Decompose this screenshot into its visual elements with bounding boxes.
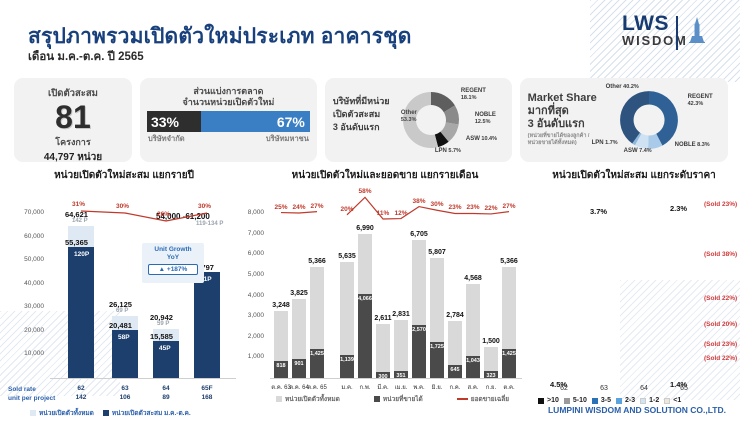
legend-swatch-3-5 xyxy=(592,398,598,404)
units-donut-name-lpn: LPN xyxy=(435,148,447,154)
unit-per-project-63: 106 xyxy=(108,394,142,401)
share-donut-value-regent: 42.3% xyxy=(688,101,704,107)
bar-total-label-3: 5,635 xyxy=(333,253,361,260)
share-donut-chart xyxy=(616,87,682,153)
bar-sold-label-8: 1,725 xyxy=(427,344,447,350)
chart-panel-monthly: หน่วยเปิดตัวใหม่และยอดขาย แยกรายเดือน 8,… xyxy=(240,166,530,418)
sold-rate-label-64: 26% xyxy=(157,211,170,218)
x-category-65F: 65F xyxy=(190,385,224,392)
y-tick-label: 4,000 xyxy=(240,292,264,299)
page-header: สรุปภาพรวมเปิดตัวใหม่ประเภท อาคารชุด เดื… xyxy=(0,0,740,72)
bar-ytd-65F xyxy=(194,272,220,378)
chart-monthly-title: หน่วยเปิดตัวใหม่และยอดขาย แยกรายเดือน xyxy=(240,166,530,183)
sold-rate-label-6: 12% xyxy=(389,210,413,217)
kpi-band: เปิดตัวสะสม 81 โครงการ 44,797 หน่วย ส่วน… xyxy=(14,78,728,162)
sold-rate-label-65F: 30% xyxy=(198,203,211,210)
x-category-65: 65 xyxy=(672,385,696,392)
units-donut-label-other: Other 53.3% xyxy=(401,110,417,124)
share-donut-value-lpn: 1.7% xyxy=(605,140,618,146)
share-donut-name-lpn: LPN xyxy=(592,140,604,146)
bar-ytd-inlabel-63: 58P xyxy=(118,334,130,341)
units-donut-label-asw: ASW 10.4% xyxy=(466,136,497,143)
x-category-63: 63 xyxy=(592,385,616,392)
sold-rate-line xyxy=(8,195,240,235)
legend-item-<1[interactable]: <1 xyxy=(664,397,681,404)
y-tick-label: 7,000 xyxy=(240,230,264,237)
legend-item-soldline[interactable]: ยอดขายเฉลี่ย xyxy=(457,394,509,404)
units-donut-name-noble: NOBLE xyxy=(475,112,496,119)
chart-panel-yearly: หน่วยเปิดตัวใหม่สะสม แยกรายปี 70,00060,0… xyxy=(8,166,240,418)
x-category-2: ต.ค. 65 xyxy=(305,382,329,392)
y-tick-label: 30,000 xyxy=(10,303,44,310)
share-legend: บริษัทจำกัด บริษัทมหาชน xyxy=(140,132,317,145)
legend-label-3-5: 3-5 xyxy=(601,397,611,404)
kpi-card-share-donut: Market Share มากที่สุด 3 อันดับแรก (หน่ว… xyxy=(520,78,728,162)
legend-swatch-1 xyxy=(374,396,380,402)
sold-annotation-2-3: (Sold 22%) xyxy=(704,295,737,302)
share-donut-name-asw: ASW xyxy=(624,148,638,154)
segment-label-<1-65: 2.3% xyxy=(670,204,687,213)
bar-sold-label-10: 1,043 xyxy=(463,358,483,364)
bar-sold-label-11: 323 xyxy=(481,373,501,379)
chart-monthly-legend: หน่วยเปิดตัวทั้งหมดหน่วยที่ขายได้ยอดขายเ… xyxy=(276,394,509,404)
legend-label-1: หน่วยที่ขายได้ xyxy=(383,394,423,404)
bar-sold-label-6: 351 xyxy=(391,373,411,379)
sold-rate-label-62: 31% xyxy=(72,201,85,208)
unit-per-project-64: 89 xyxy=(149,394,183,401)
legend-item-3-5[interactable]: 3-5 xyxy=(592,397,611,404)
units-donut-value-regent: 18.1% xyxy=(461,95,477,101)
units-donut-name-other: Other xyxy=(401,110,417,117)
sold-annotation-5-10: (Sold 23%) xyxy=(704,341,737,348)
units-donut-value-other: 53.3% xyxy=(401,117,417,123)
legend-item-2-3[interactable]: 2-3 xyxy=(616,397,635,404)
legend-item-0[interactable]: หน่วยเปิดตัวทั้งหมด xyxy=(30,408,94,418)
legend-label-0: หน่วยเปิดตัวทั้งหมด xyxy=(285,394,340,404)
chart-yearly-plot: 70,00060,00050,00040,00030,00020,00010,0… xyxy=(8,183,240,435)
share-donut-value-noble: 8.3% xyxy=(697,142,710,148)
legend-item->10[interactable]: >10 xyxy=(538,397,559,404)
chart-yearly-title: หน่วยเปิดตัวใหม่สะสม แยกรายปี xyxy=(8,166,240,183)
bar-total-label-9: 2,784 xyxy=(441,312,469,319)
growth-label-line2: YoY xyxy=(142,254,204,261)
bar-ytd-62 xyxy=(68,247,94,378)
sold-rate-label-3: 20% xyxy=(335,206,359,213)
sold-rate-label-4: 58% xyxy=(353,188,377,195)
bar-total-label-8: 5,807 xyxy=(423,249,451,256)
share-donut-name-regent: REGENT xyxy=(688,94,713,101)
share-donut-title: Market Share มากที่สุด 3 อันดับแรก (หน่ว… xyxy=(528,92,597,147)
share-donut-title-2: มากที่สุด xyxy=(528,105,597,118)
units-donut-value-asw: 10.4% xyxy=(481,136,497,142)
units-donut-title: บริษัทที่มีหน่วย เปิดตัวสะสม 3 อันดับแรก xyxy=(333,95,390,134)
legend-swatch-<1 xyxy=(664,398,670,404)
bar-ytd-label-64: 15,585 xyxy=(150,332,173,341)
legend-label-1-2: 1-2 xyxy=(649,397,659,404)
share-donut-name-noble: NOBLE xyxy=(675,142,696,148)
bar-sold-label-9: 645 xyxy=(445,367,465,373)
y-tick-label: 3,000 xyxy=(240,312,264,319)
y-tick-label: 5,000 xyxy=(240,271,264,278)
legend-swatch-2-3 xyxy=(616,398,622,404)
bar-total-label-10: 4,568 xyxy=(459,275,487,282)
growth-pill: ▲ +187% xyxy=(148,264,198,275)
bar-total-label-1: 3,825 xyxy=(285,290,313,297)
share-donut-label-regent: REGENT 42.3% xyxy=(688,94,713,108)
kpi-card-launch: เปิดตัวสะสม 81 โครงการ 44,797 หน่วย xyxy=(14,78,132,162)
bar-total-label-2: 5,366 xyxy=(303,258,331,265)
legend-swatch-1-2 xyxy=(640,398,646,404)
unit-per-project-row-label: unit per project xyxy=(8,395,55,403)
share-donut-title-1: Market Share xyxy=(528,92,597,105)
bar-sold-label-0: 818 xyxy=(271,363,291,369)
x-category-62: 62 xyxy=(552,385,576,392)
bar-sold-label-2: 1,425 xyxy=(307,351,327,357)
legend-item-1[interactable]: หน่วยเปิดตัวสะสม ม.ค.-ต.ค. xyxy=(103,408,191,418)
kpi-launch-units: 44,797 หน่วย xyxy=(14,150,132,165)
legend-swatch-5-10 xyxy=(564,398,570,404)
bar-total-label-4: 6,990 xyxy=(351,225,379,232)
legend-label-2-3: 2-3 xyxy=(625,397,635,404)
legend-item-1-2[interactable]: 1-2 xyxy=(640,397,659,404)
kpi-launch-value: 81 xyxy=(14,101,132,133)
legend-swatch->10 xyxy=(538,398,544,404)
share-donut-note-2: หน่วยขายได้ทั้งหมด) xyxy=(528,140,597,147)
x-category-62: 62 xyxy=(64,385,98,392)
legend-label-1: หน่วยเปิดตัวสะสม ม.ค.-ต.ค. xyxy=(112,408,191,418)
bar-sold-label-12: 1,425 xyxy=(499,351,519,357)
segment-label-<1-63: 3.7% xyxy=(590,207,607,216)
units-donut-value-noble: 12.5% xyxy=(475,119,491,125)
legend-item-0[interactable]: หน่วยเปิดตัวทั้งหมด xyxy=(276,394,340,404)
legend-item-5-10[interactable]: 5-10 xyxy=(564,397,587,404)
logo-divider xyxy=(676,16,678,50)
bar-total-6 xyxy=(394,320,408,378)
chart-panel-priceband: หน่วยเปิดตัวใหม่สะสม แยกระดับราคา 4.5%62… xyxy=(530,166,738,418)
units-donut-label-lpn: LPN 5.7% xyxy=(435,148,461,155)
sold-annotation-<1: (Sold 23%) xyxy=(704,201,737,208)
units-donut-title-1: บริษัทที่มีหน่วย xyxy=(333,95,390,108)
chart-priceband-plot: 4.5%623.7%63642.3%1.4%65(Sold 23%)(Sold … xyxy=(530,183,738,435)
page-subtitle: เดือน ม.ค.-ต.ค. ปี 2565 xyxy=(28,48,144,66)
share-title-line1: ส่วนแบ่งการตลาด xyxy=(140,78,317,97)
growth-label-line1: Unit Growth xyxy=(142,246,204,253)
share-donut-label-other: Other 40.2% xyxy=(606,84,639,91)
footer-company: LUMPINI WISDOM AND SOLUTION CO.,LTD. xyxy=(548,405,726,415)
unit-per-project-65F: 168 xyxy=(190,394,224,401)
y-tick-label: 1,000 xyxy=(240,353,264,360)
bar-total-sublabel-63: 69 P xyxy=(116,308,128,314)
x-category-64: 64 xyxy=(632,385,656,392)
share-donut-label-lpn: LPN 1.7% xyxy=(592,140,618,147)
bar-sold-4 xyxy=(358,294,372,378)
sold-annotation-1-2: (Sold 38%) xyxy=(704,251,737,258)
y-tick-label: 2,000 xyxy=(240,333,264,340)
share-donut-value-other: 40.2% xyxy=(623,84,639,90)
bar-ytd-label-63: 20,481 xyxy=(109,321,132,330)
share-donut-label-noble: NOBLE 8.3% xyxy=(675,142,710,149)
bar-sold-label-7: 2,570 xyxy=(409,327,429,333)
legend-item-1[interactable]: หน่วยที่ขายได้ xyxy=(374,394,423,404)
share-right-pct: 67% xyxy=(201,111,310,132)
bar-total-label-6: 2,831 xyxy=(387,311,415,318)
sold-rate-label-2: 27% xyxy=(305,203,329,210)
legend-label-soldline: ยอดขายเฉลี่ย xyxy=(471,394,509,404)
legend-swatch-1 xyxy=(103,410,109,416)
y-tick-label: 6,000 xyxy=(240,250,264,257)
units-donut-title-2: เปิดตัวสะสม xyxy=(333,108,390,121)
y-tick-label: 50,000 xyxy=(10,256,44,263)
units-donut-title-3: 3 อันดับแรก xyxy=(333,121,390,134)
chart-priceband-title: หน่วยเปิดตัวใหม่สะสม แยกระดับราคา xyxy=(530,166,738,183)
x-axis-line xyxy=(50,378,236,379)
bar-ytd-inlabel-64: 45P xyxy=(159,345,171,352)
kpi-card-market-share: ส่วนแบ่งการตลาด จำนวนหน่วยเปิดตัวใหม่ 33… xyxy=(140,78,317,162)
kpi-card-units-donut: บริษัทที่มีหน่วย เปิดตัวสะสม 3 อันดับแรก… xyxy=(325,78,512,162)
y-tick-label: 10,000 xyxy=(10,350,44,357)
x-category-12: ต.ค. xyxy=(497,382,521,392)
share-right-label: บริษัทมหาชน xyxy=(266,133,309,145)
legend-swatch-soldline xyxy=(457,398,468,400)
sold-rate-row-label: Sold rate xyxy=(8,386,36,394)
share-left-label: บริษัทจำกัด xyxy=(148,133,185,145)
bar-total-label-11: 1,500 xyxy=(477,338,505,345)
units-donut-label-regent: REGENT 18.1% xyxy=(461,88,486,102)
legend-swatch-0 xyxy=(276,396,282,402)
chart-yearly-legend: หน่วยเปิดตัวทั้งหมดหน่วยเปิดตัวสะสม ม.ค.… xyxy=(30,408,191,418)
bar-sold-label-4: 4,066 xyxy=(355,296,375,302)
share-left-pct: 33% xyxy=(147,111,201,132)
units-donut-name-regent: REGENT xyxy=(461,88,486,95)
sold-annotation->10: (Sold 22%) xyxy=(704,355,737,362)
share-title-line2: จำนวนหน่วยเปิดตัวใหม่ xyxy=(140,97,317,108)
x-category-63: 63 xyxy=(108,385,142,392)
share-donut-note-1: (หน่วยที่ขายได้ของลูกค้า / xyxy=(528,133,597,140)
legend-label-5-10: 5-10 xyxy=(573,397,587,404)
brand-logo: LWS WISDOM xyxy=(622,14,718,50)
share-bar: 33% 67% xyxy=(147,111,310,132)
units-donut-value-lpn: 5.7% xyxy=(448,148,461,154)
y-tick-label: 20,000 xyxy=(10,327,44,334)
legend-swatch-0 xyxy=(30,410,36,416)
sold-rate-label-12: 27% xyxy=(497,203,521,210)
bar-sold-label-5: 300 xyxy=(373,374,393,380)
bar-sold-label-3: 1,139 xyxy=(337,357,357,363)
bar-ytd-inlabel-62: 120P xyxy=(74,251,89,258)
chart-monthly-plot: 8,0007,0006,0005,0004,0003,0002,0001,000… xyxy=(240,183,530,435)
units-donut-label-noble: NOBLE 12.5% xyxy=(475,112,496,126)
tower-icon xyxy=(686,17,708,43)
bar-total-label-12: 5,366 xyxy=(495,258,523,265)
bar-sold-label-1: 901 xyxy=(289,361,309,367)
legend-label-0: หน่วยเปิดตัวทั้งหมด xyxy=(39,408,94,418)
kpi-launch-sub: โครงการ xyxy=(14,135,132,149)
legend-label-<1: <1 xyxy=(673,397,681,404)
share-donut-title-3: 3 อันดับแรก xyxy=(528,118,597,131)
y-tick-label: 40,000 xyxy=(10,280,44,287)
kpi-launch-label: เปิดตัวสะสม xyxy=(14,78,132,101)
bar-ytd-label-62: 55,365 xyxy=(65,238,88,247)
units-donut-name-asw: ASW xyxy=(466,136,480,142)
share-donut-label-asw: ASW 7.4% xyxy=(624,148,652,155)
sold-annotation-3-5: (Sold 20%) xyxy=(704,321,737,328)
unit-per-project-62: 142 xyxy=(64,394,98,401)
bar-total-label-7: 6,705 xyxy=(405,231,433,238)
bar-total-5 xyxy=(376,324,390,378)
sold-rate-label-63: 30% xyxy=(116,203,129,210)
bar-total-label-0: 3,248 xyxy=(267,302,295,309)
x-category-64: 64 xyxy=(149,385,183,392)
legend-label->10: >10 xyxy=(547,397,559,404)
bar-total-sublabel-64: 59 P xyxy=(157,321,169,327)
chart-priceband-legend: >105-103-52-31-2<1 xyxy=(538,397,681,404)
share-donut-name-other: Other xyxy=(606,84,622,90)
share-donut-value-asw: 7.4% xyxy=(639,148,652,154)
